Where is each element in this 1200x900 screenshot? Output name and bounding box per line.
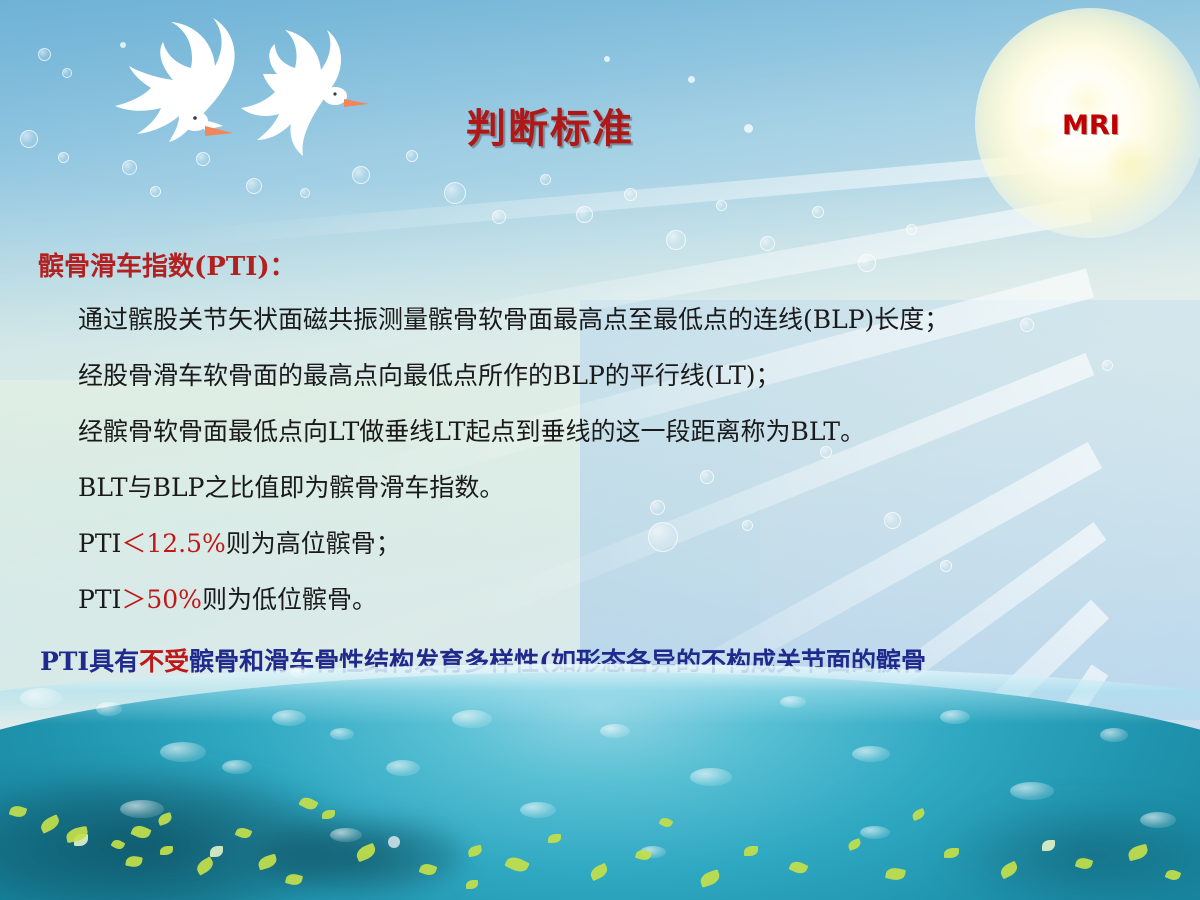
criterion-suffix: 则为低位髌骨。 — [202, 585, 377, 614]
body-heading: 髌骨滑车指数(PTI)： — [38, 250, 1200, 284]
criterion-prefix: PTI — [78, 585, 121, 614]
presentation-slide: 判断标准 MRI 髌骨滑车指数(PTI)： 通过髌股关节矢状面磁共振测量髌骨软骨… — [0, 0, 1200, 900]
sun-highlight — [1100, 140, 1160, 190]
criterion-suffix: 则为高位髌骨； — [226, 529, 401, 558]
water-illustration — [0, 650, 1200, 900]
criterion-row-2: PTI＞50%则为低位髌骨。 — [78, 574, 1200, 626]
slide-body: 髌骨滑车指数(PTI)： 通过髌股关节矢状面磁共振测量髌骨软骨面最高点至最低点的… — [0, 250, 1200, 630]
criterion-row-1: PTI＜12.5%则为高位髌骨； — [78, 518, 1200, 570]
criterion-prefix: PTI — [78, 529, 121, 558]
mri-label: MRI — [1062, 110, 1120, 141]
water-highlight-rim — [0, 664, 1200, 724]
body-line-3: 经髌骨软骨面最低点向LT做垂线LT起点到垂线的这一段距离称为BLT。 — [78, 406, 1200, 458]
slide-title: 判断标准 — [0, 96, 1100, 154]
criterion-value: ＜12.5% — [121, 529, 225, 558]
body-line-2: 经股骨滑车软骨面的最高点向最低点所作的BLP的平行线(LT)； — [78, 350, 1200, 402]
body-line-4: BLT与BLP之比值即为髌骨滑车指数。 — [78, 462, 1200, 514]
criterion-value: ＞50% — [121, 585, 202, 614]
body-line-1: 通过髌股关节矢状面磁共振测量髌骨软骨面最高点至最低点的连线(BLP)长度； — [78, 294, 1200, 346]
